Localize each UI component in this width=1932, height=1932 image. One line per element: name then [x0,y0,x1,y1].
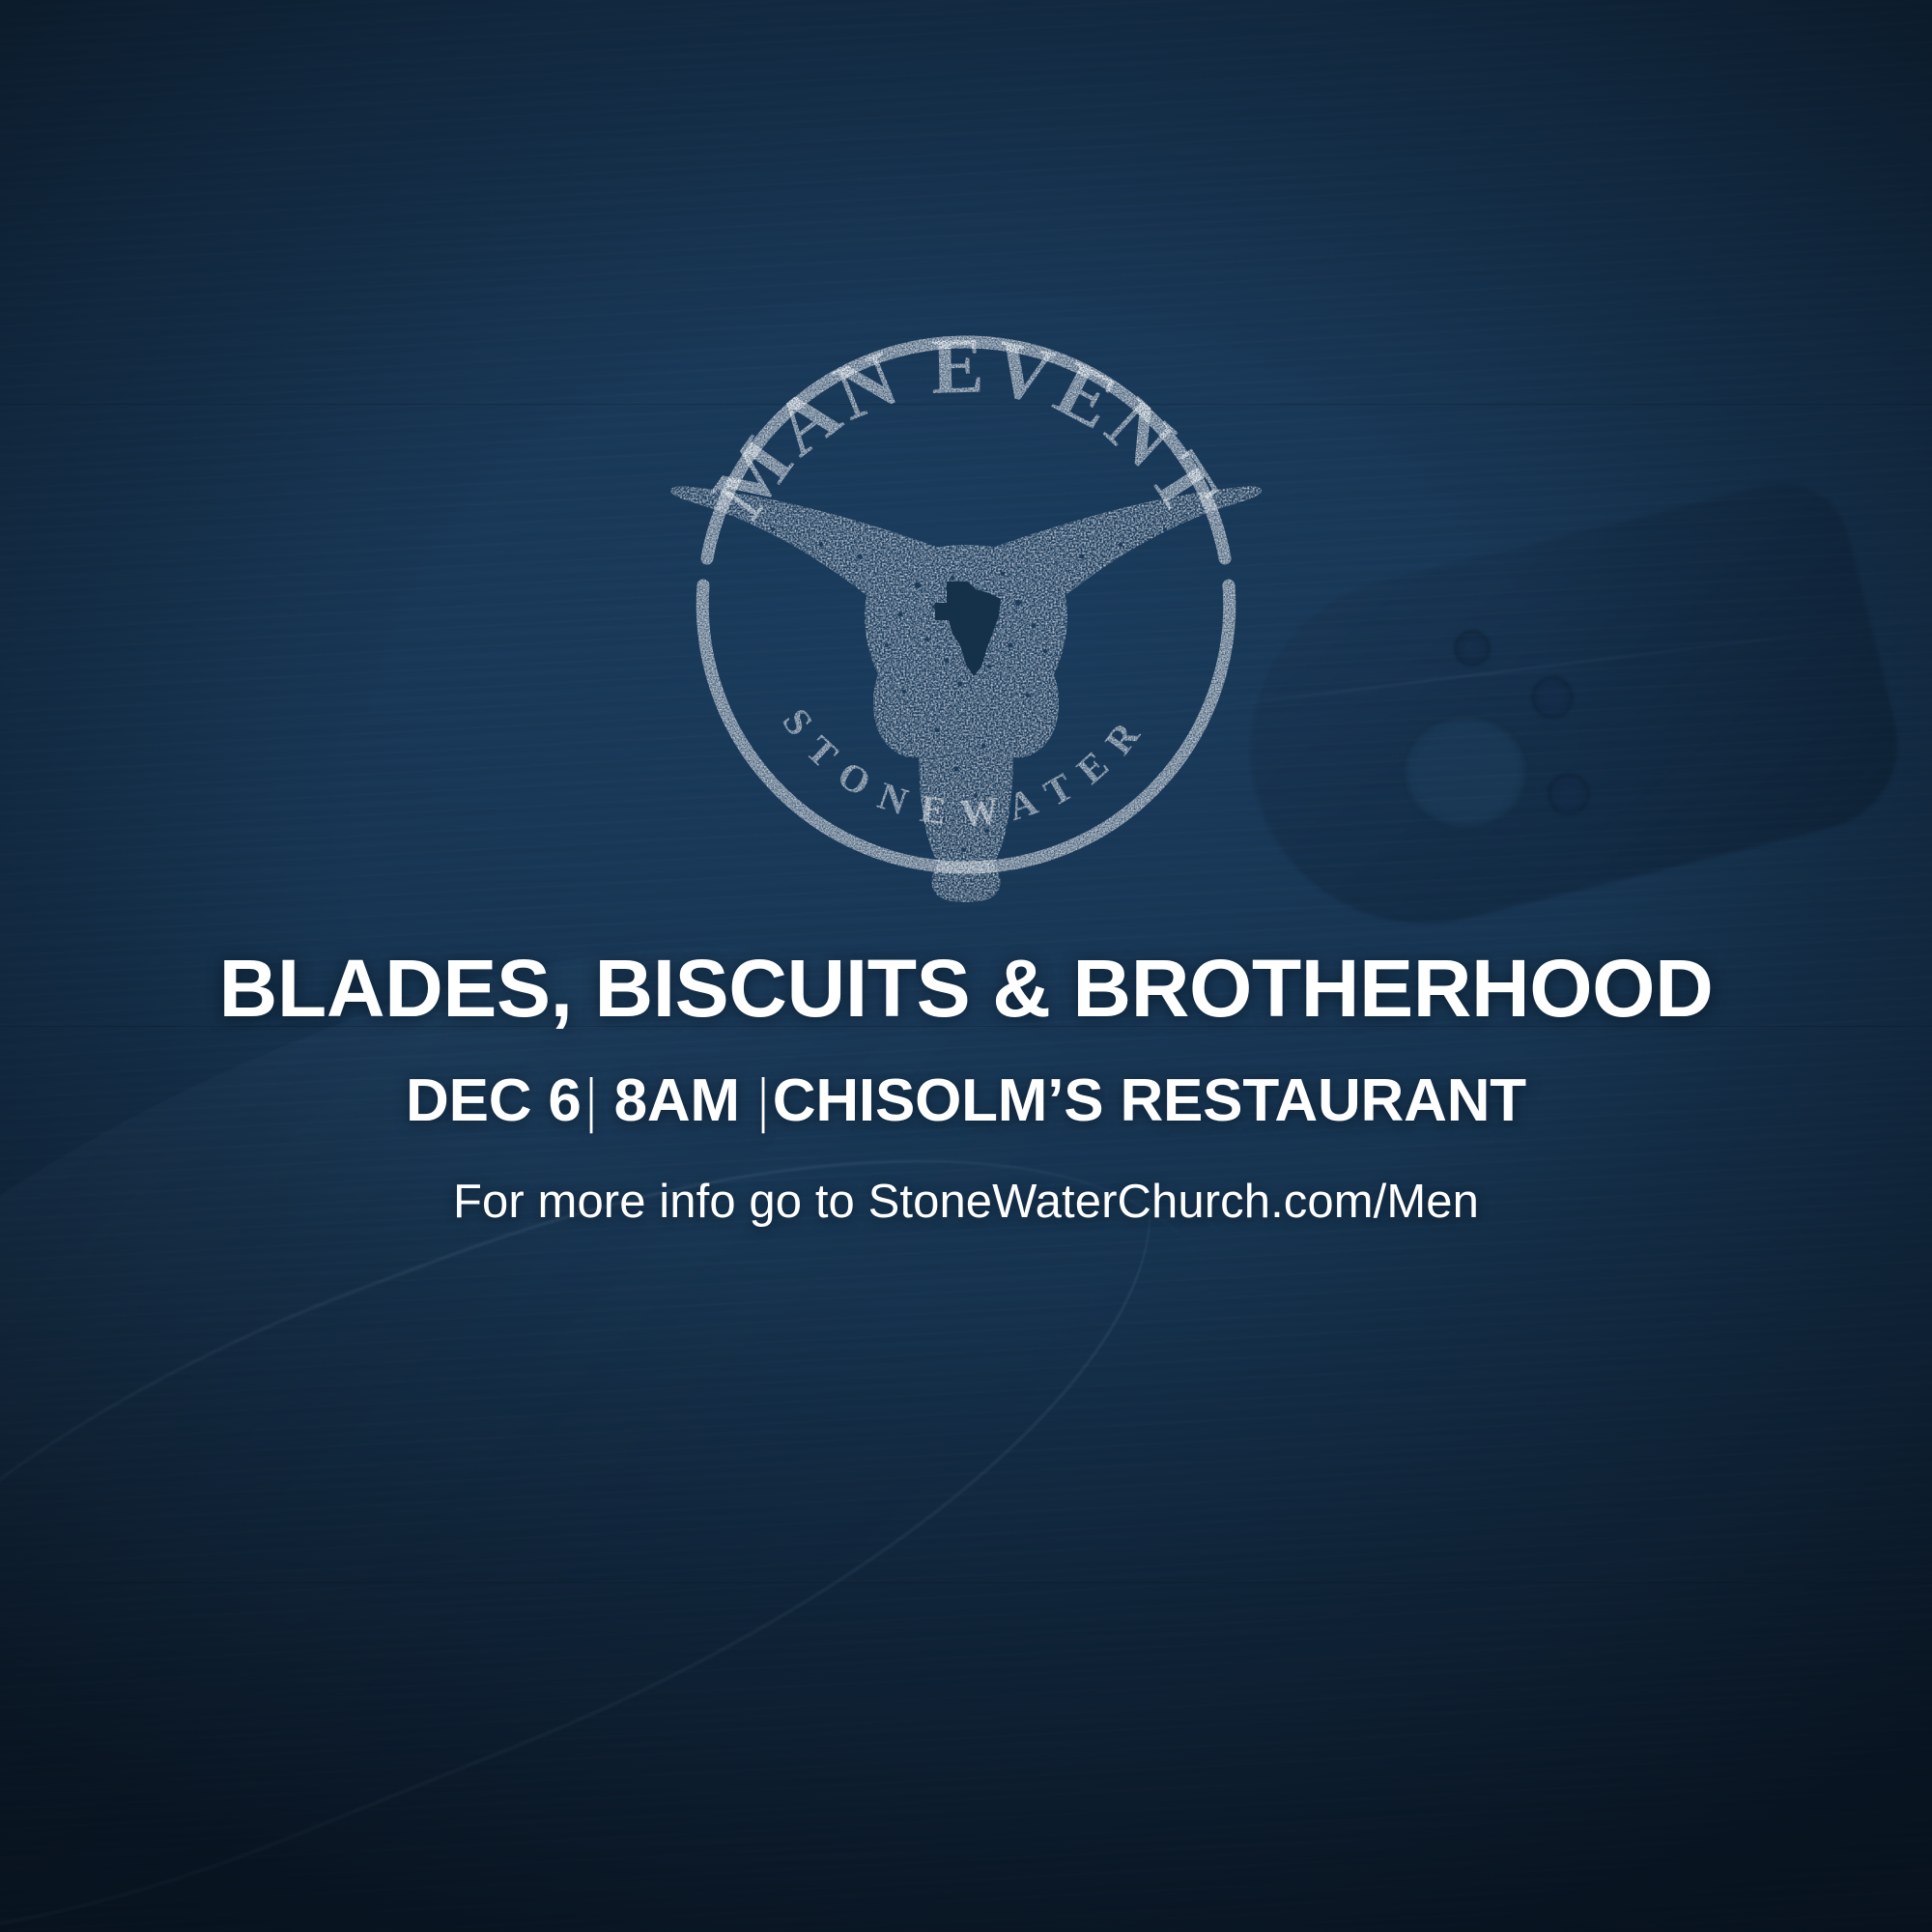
event-time: 8AM [614,1067,740,1134]
event-details-line: DEC 6|8AM|CHISOLM’S RESTAURANT [0,1069,1932,1132]
event-date: DEC 6 [406,1067,582,1134]
man-event-logo: MAN EVENT [628,267,1304,943]
event-venue: CHISOLM’S RESTAURANT [773,1067,1526,1134]
longhorn-skull [670,486,1262,902]
event-text-block: BLADES, BISCUITS & BROTHERHOOD DEC 6|8AM… [0,947,1932,1229]
detail-separator-2: | [757,1069,768,1132]
event-headline: BLADES, BISCUITS & BROTHERHOOD [0,947,1932,1031]
more-info-line: For more info go to StoneWaterChurch.com… [0,1177,1932,1229]
detail-separator-1: | [585,1069,596,1132]
event-promo-poster: MAN EVENT [0,0,1932,1932]
